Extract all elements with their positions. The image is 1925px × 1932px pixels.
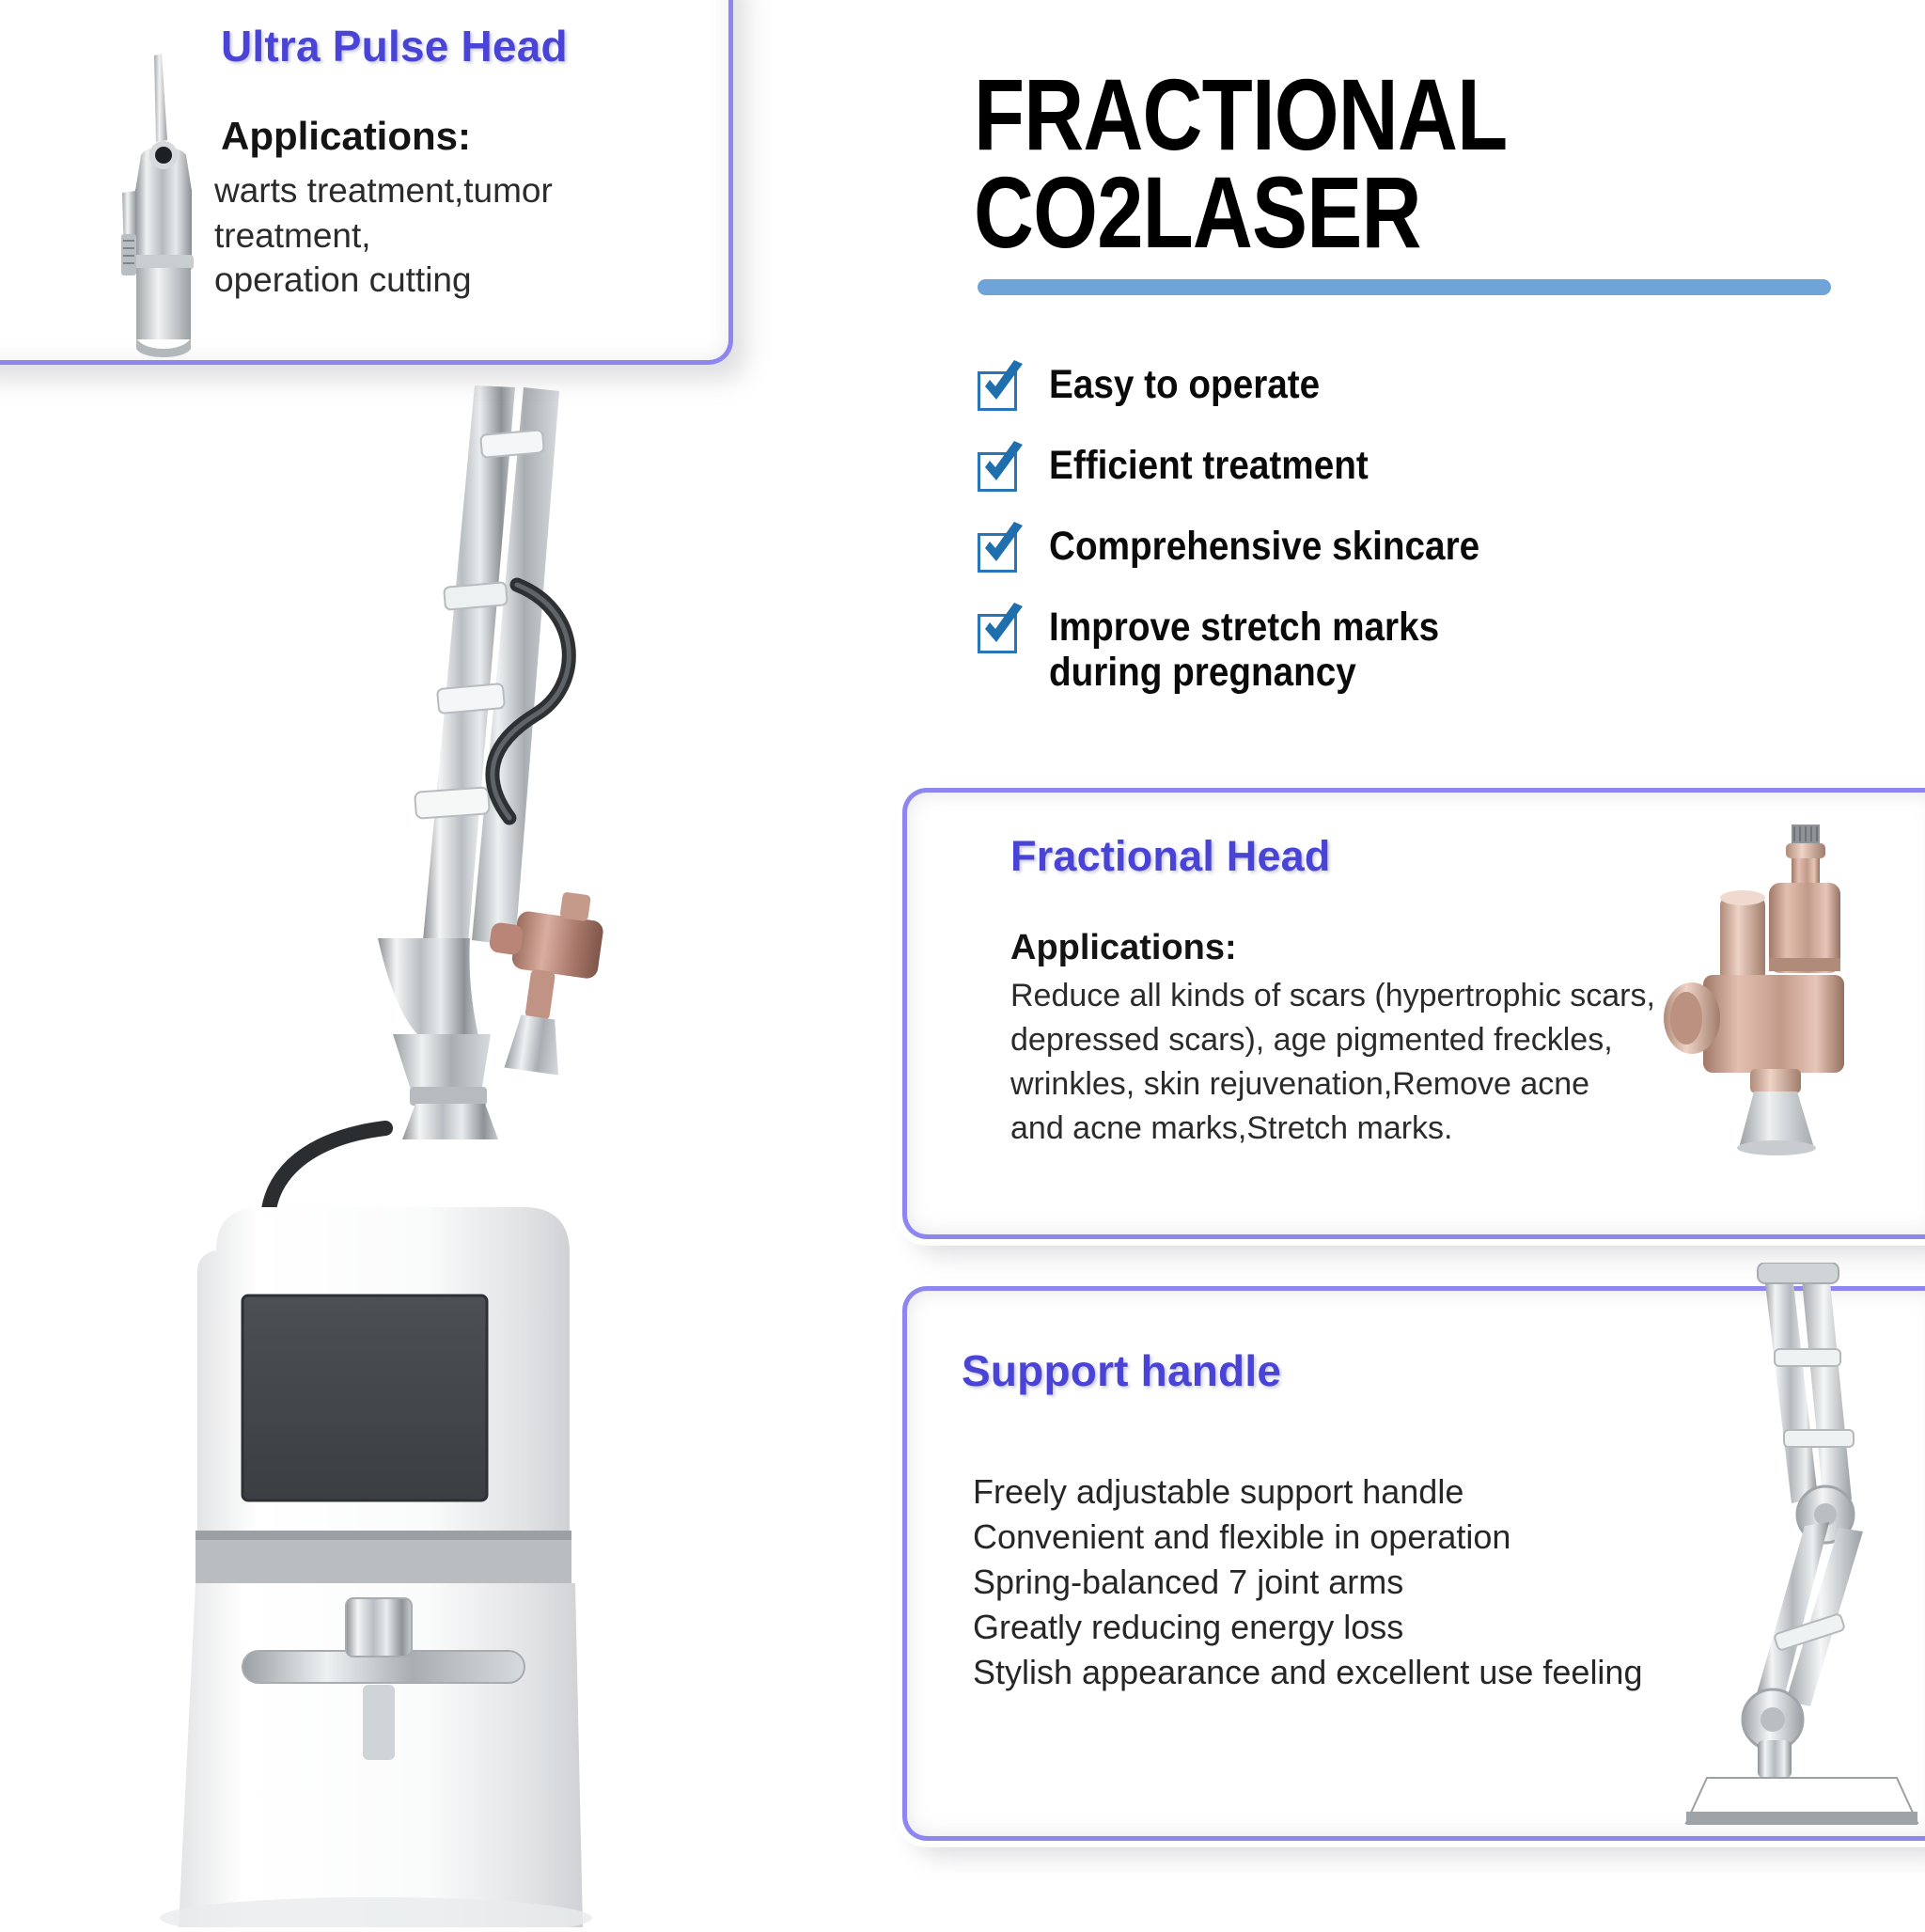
feature-item: Efficient treatment <box>978 443 1880 492</box>
feature-label: Efficient treatment <box>1049 443 1369 488</box>
support-handle-line: Stylish appearance and excellent use fee… <box>973 1650 1650 1695</box>
checkbox-checked-icon <box>978 529 1021 573</box>
support-arm-image <box>1617 1263 1925 1827</box>
feature-item: Comprehensive skincare <box>978 524 1880 573</box>
feature-label: Easy to operate <box>1049 362 1320 407</box>
ultra-pulse-handpiece-image <box>105 50 227 360</box>
fractional-head-applications-body: Reduce all kinds of scars (hypertrophic … <box>1010 974 1659 1151</box>
support-handle-feature-list: Freely adjustable support handle Conveni… <box>973 1469 1650 1694</box>
support-handle-card: Support handle Freely adjustable support… <box>902 1286 1925 1841</box>
feature-item: Improve stretch marks during pregnancy <box>978 605 1880 695</box>
page-title: FRACTIONAL CO2LASER <box>974 66 1745 260</box>
support-handle-line: Greatly reducing energy loss <box>973 1605 1650 1650</box>
feature-list: Easy to operate Efficient treatment Comp… <box>978 362 1880 727</box>
ultra-pulse-head-card: Ultra Pulse Head Applications: warts tre… <box>0 0 733 365</box>
ultra-pulse-applications-label: Applications: <box>221 114 691 159</box>
fractional-head-title: Fractional Head <box>1010 832 1659 881</box>
co2-laser-machine-image <box>141 376 761 1927</box>
fractional-head-applications-label: Applications: <box>1010 928 1659 968</box>
ultra-pulse-head-title: Ultra Pulse Head <box>221 24 691 69</box>
support-handle-title: Support handle <box>962 1345 1650 1396</box>
headline-block: FRACTIONAL CO2LASER <box>974 66 1914 295</box>
checkbox-checked-icon <box>978 448 1021 492</box>
checkbox-checked-icon <box>978 368 1021 411</box>
fractional-handpiece-image <box>1649 817 1902 1155</box>
feature-label: Improve stretch marks during pregnancy <box>1049 605 1439 695</box>
support-handle-line: Convenient and flexible in operation <box>973 1515 1650 1560</box>
support-handle-line: Freely adjustable support handle <box>973 1469 1650 1515</box>
support-handle-line: Spring-balanced 7 joint arms <box>973 1560 1650 1605</box>
feature-label: Comprehensive skincare <box>1049 524 1479 569</box>
title-underline-rule <box>978 279 1831 295</box>
ultra-pulse-applications-body: warts treatment,tumor treatment, operati… <box>214 168 691 302</box>
feature-item: Easy to operate <box>978 362 1880 411</box>
poster-canvas: Ultra Pulse Head Applications: warts tre… <box>0 0 1925 1925</box>
checkbox-checked-icon <box>978 610 1021 653</box>
fractional-head-card: Fractional Head Applications: Reduce all… <box>902 788 1925 1239</box>
